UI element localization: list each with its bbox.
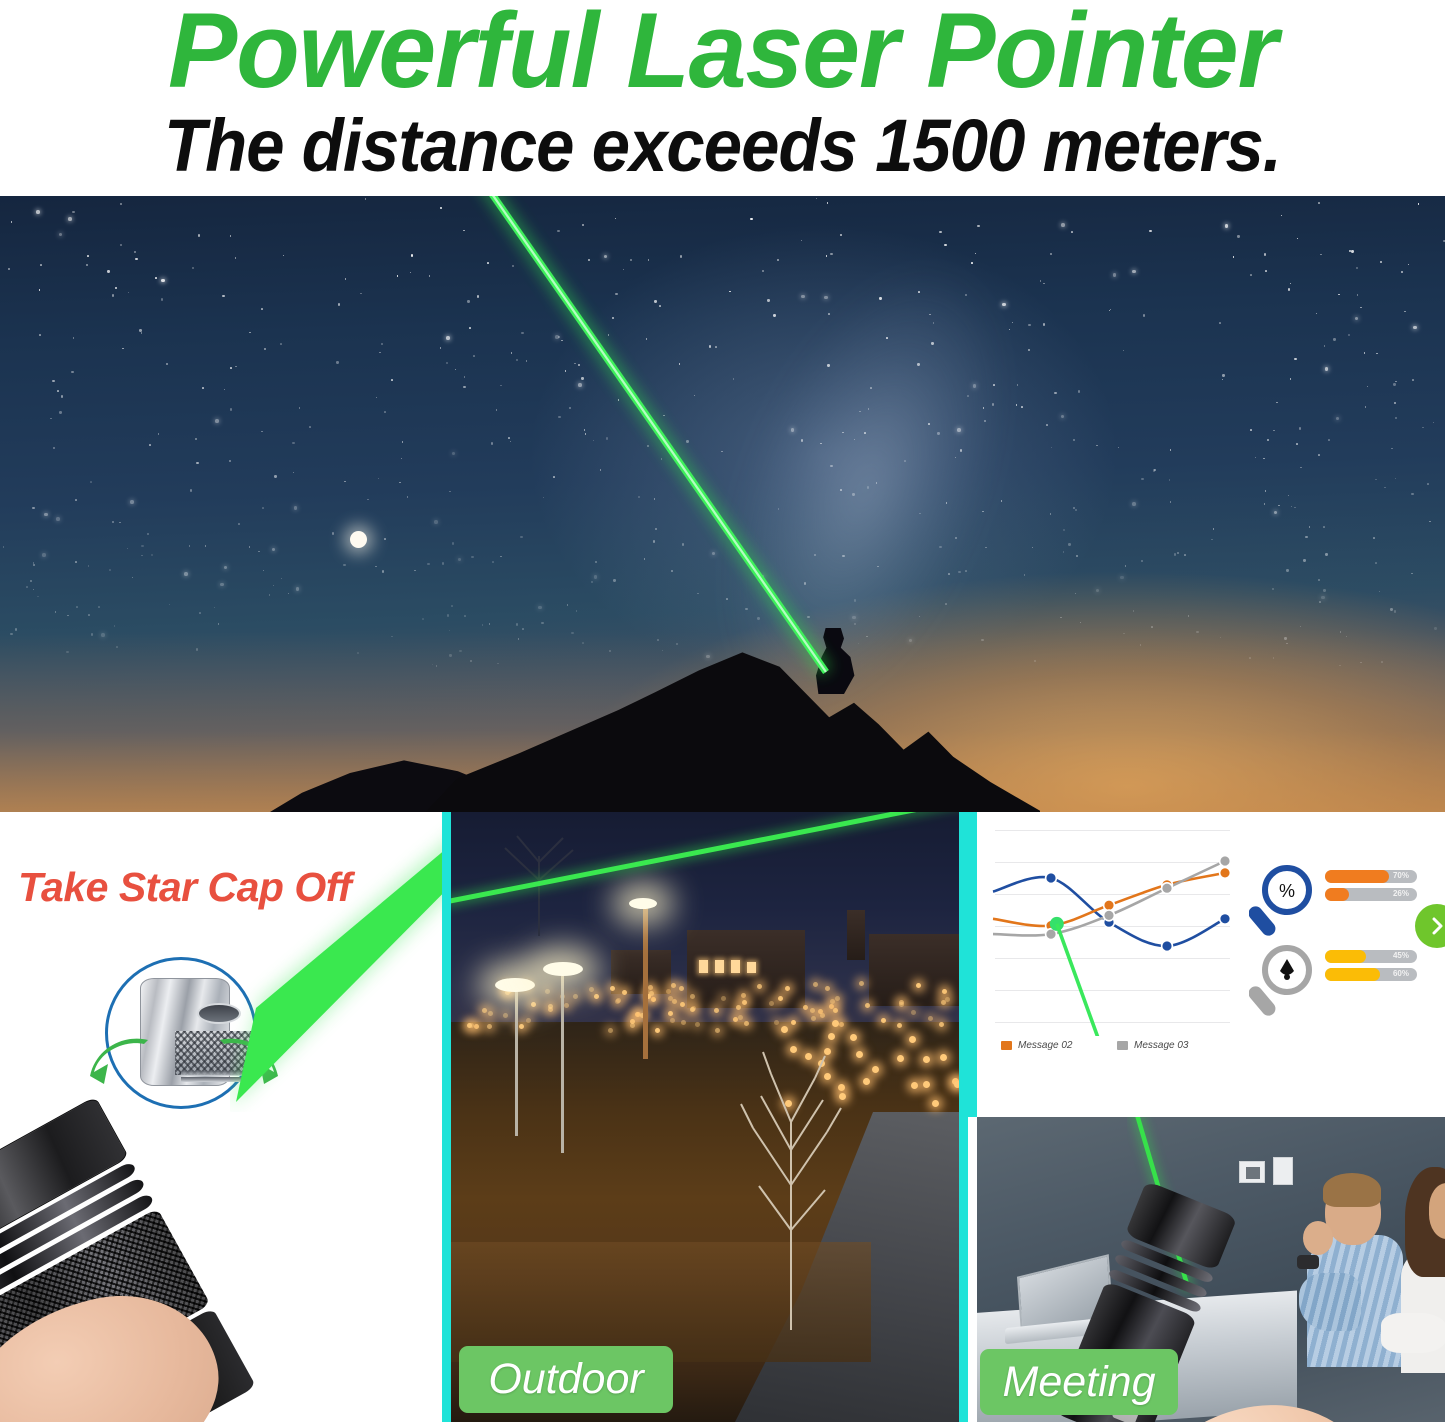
- outdoor-panel: Outdoor: [442, 812, 968, 1422]
- star: [1061, 223, 1065, 227]
- road-light: [932, 1100, 939, 1107]
- star: [1296, 443, 1298, 445]
- star: [1303, 559, 1305, 561]
- drop-magnifier-icon: [1249, 944, 1323, 1022]
- star: [1394, 610, 1396, 612]
- star: [1222, 379, 1224, 381]
- star: [1355, 317, 1359, 321]
- slide-next-button[interactable]: [1415, 904, 1445, 948]
- star: [1264, 503, 1266, 505]
- star: [1265, 490, 1267, 492]
- star: [1384, 487, 1386, 489]
- star: [1263, 458, 1265, 460]
- astronomy-panel: Astronomy: [0, 196, 1445, 812]
- star: [1325, 367, 1329, 371]
- star: [1309, 526, 1311, 528]
- star: [1188, 615, 1190, 617]
- chart-data-point: [1162, 941, 1173, 952]
- star: [1132, 502, 1136, 506]
- star: [1395, 417, 1397, 419]
- road-light: [923, 1056, 930, 1063]
- star: [1286, 569, 1288, 571]
- star: [1413, 326, 1417, 330]
- bottom-row: Take Star Cap Off: [0, 812, 1445, 1422]
- star: [1071, 231, 1073, 233]
- star: [1141, 478, 1143, 480]
- line-chart: [989, 816, 1239, 1036]
- progress-bar-track-1: 70%: [1325, 870, 1417, 883]
- laser-beam-cap-panel: [230, 812, 442, 1112]
- star: [1291, 506, 1293, 508]
- slide-left-border: [968, 812, 977, 1117]
- star: [1225, 224, 1229, 228]
- legend-swatch: [1001, 1041, 1012, 1050]
- progress-bar-fill: [1325, 968, 1380, 981]
- star: [1151, 626, 1153, 628]
- star: [1351, 250, 1353, 252]
- road-light: [863, 1078, 870, 1085]
- star: [1237, 235, 1239, 237]
- star: [1125, 565, 1127, 567]
- star: [1078, 390, 1080, 392]
- star: [1250, 429, 1252, 431]
- outdoor-tag-label: Outdoor: [488, 1355, 643, 1404]
- star: [1365, 406, 1367, 408]
- laser-beam-outdoor: [445, 812, 968, 1010]
- star: [1299, 427, 1301, 429]
- outdoor-tag: Outdoor: [459, 1346, 673, 1413]
- star: [1324, 345, 1326, 347]
- star: [1336, 417, 1340, 421]
- chart-legend-item-1: Message 02: [1001, 1040, 1072, 1051]
- star: [1320, 254, 1322, 256]
- attendee-man-hair: [1323, 1173, 1381, 1207]
- star: [1113, 273, 1117, 277]
- star: [1393, 383, 1395, 385]
- chart-data-point: [1162, 883, 1173, 894]
- star: [1278, 505, 1280, 507]
- street-light: [608, 1028, 613, 1033]
- star: [1401, 271, 1403, 273]
- star: [1233, 256, 1235, 258]
- page-title: Powerful Laser Pointer: [22, 0, 1424, 105]
- star: [1290, 283, 1292, 285]
- star: [1050, 253, 1052, 255]
- presentation-slide: Message 02 Message 03 % 70% 26%: [977, 812, 1445, 1117]
- legend-swatch: [1117, 1041, 1128, 1050]
- progress-bar-fill: [1325, 950, 1366, 963]
- star: [1360, 307, 1362, 309]
- star: [1333, 338, 1335, 340]
- star: [1325, 553, 1327, 555]
- star: [1281, 215, 1283, 217]
- star: [1169, 479, 1171, 481]
- meeting-tag-label: Meeting: [1003, 1358, 1156, 1407]
- progress-bar-track-4: 60%: [1325, 968, 1417, 981]
- street-light: [939, 1022, 944, 1027]
- star: [1418, 203, 1420, 205]
- chart-data-point: [1104, 900, 1115, 911]
- bare-tree-large: [731, 1000, 851, 1330]
- star: [1288, 495, 1290, 497]
- star: [1395, 478, 1397, 480]
- star: [1318, 202, 1320, 204]
- star: [1411, 493, 1413, 495]
- star: [1379, 591, 1381, 593]
- star: [1404, 311, 1406, 313]
- chart-legend-item-2: Message 03: [1117, 1040, 1188, 1051]
- star: [1300, 626, 1302, 628]
- star: [1411, 573, 1413, 575]
- star: [1380, 261, 1382, 263]
- star: [1338, 294, 1340, 296]
- progress-bar-percent: 45%: [1393, 951, 1409, 960]
- street-light: [474, 1024, 479, 1029]
- wall-socket-2: [1273, 1157, 1293, 1185]
- progress-bar-fill: [1325, 888, 1349, 901]
- star: [1305, 536, 1307, 538]
- star: [1323, 589, 1325, 591]
- star: [1433, 422, 1435, 424]
- star: [1323, 526, 1325, 528]
- street-light: [655, 1028, 660, 1033]
- street-light: [695, 1022, 700, 1027]
- legend-label: Message 02: [1018, 1040, 1072, 1051]
- street-light: [488, 1011, 493, 1016]
- header-banner: Powerful Laser Pointer The distance exce…: [0, 0, 1445, 196]
- laser-beam-on-slide: [1057, 924, 1099, 1036]
- star: [1213, 528, 1215, 530]
- star: [1429, 521, 1431, 523]
- star: [1255, 457, 1257, 459]
- star: [1068, 543, 1070, 545]
- star: [1373, 537, 1375, 539]
- street-light: [526, 1018, 531, 1023]
- star: [1141, 560, 1143, 562]
- star: [1328, 439, 1330, 441]
- star: [1154, 469, 1156, 471]
- star: [1264, 253, 1266, 255]
- attendee-woman-arm: [1381, 1313, 1445, 1353]
- legend-label: Message 03: [1134, 1040, 1188, 1051]
- star: [1395, 381, 1397, 383]
- star: [1143, 314, 1145, 316]
- progress-bar-track-3: 45%: [1325, 950, 1417, 963]
- rotate-arrow-left-icon: [90, 1038, 148, 1086]
- meeting-tag: Meeting: [980, 1349, 1178, 1415]
- progress-bar-percent: 26%: [1393, 889, 1409, 898]
- product-infographic: Powerful Laser Pointer The distance exce…: [0, 0, 1445, 1422]
- road-light: [923, 1081, 930, 1088]
- star: [1060, 617, 1062, 619]
- star: [1276, 402, 1278, 404]
- progress-bar-percent: 60%: [1393, 969, 1409, 978]
- star: [1219, 322, 1221, 324]
- star: [1222, 374, 1224, 376]
- star-cap-metal-body: [140, 978, 230, 1086]
- star: [1375, 479, 1377, 481]
- star: [1294, 507, 1296, 509]
- star: [1109, 310, 1111, 312]
- percent-magnifier-icon: %: [1249, 864, 1323, 942]
- star: [1054, 392, 1056, 394]
- star: [1250, 274, 1252, 276]
- chart-data-point: [1104, 910, 1115, 921]
- progress-bar-percent: 70%: [1393, 871, 1409, 880]
- star: [1274, 511, 1278, 515]
- chevron-right-icon: [1428, 917, 1445, 935]
- star: [1412, 379, 1414, 381]
- star: [1046, 424, 1048, 426]
- star: [1288, 288, 1290, 290]
- star: [1434, 627, 1436, 629]
- star: [1319, 601, 1321, 603]
- star: [1294, 358, 1296, 360]
- road-light: [897, 1055, 904, 1062]
- star: [1427, 483, 1429, 485]
- progress-bar-track-2: 26%: [1325, 888, 1417, 901]
- road-light: [909, 1036, 916, 1043]
- star: [1075, 593, 1077, 595]
- star: [1133, 610, 1135, 612]
- chart-data-point: [1220, 913, 1231, 924]
- svg-text:%: %: [1279, 881, 1295, 901]
- attendee-man-arm: [1299, 1273, 1361, 1331]
- star: [1364, 352, 1366, 354]
- star: [1297, 238, 1299, 240]
- star: [1177, 552, 1179, 554]
- street-light: [503, 1013, 508, 1018]
- star: [1184, 554, 1186, 556]
- street-light: [911, 1010, 916, 1015]
- star: [1300, 467, 1302, 469]
- star: [1120, 576, 1124, 580]
- star: [1211, 539, 1213, 541]
- laser-beam-astronomy: [0, 196, 1040, 744]
- chart-data-point: [1046, 873, 1057, 884]
- star: [1422, 427, 1424, 429]
- star: [1357, 294, 1359, 296]
- star: [1273, 430, 1275, 432]
- star: [1265, 270, 1267, 272]
- star: [1132, 270, 1136, 274]
- attendee-man-hand: [1303, 1221, 1333, 1255]
- star-cap-panel: Take Star Cap Off: [0, 812, 442, 1422]
- star: [1408, 264, 1410, 266]
- road-light: [954, 1081, 961, 1088]
- page-subtitle: The distance exceeds 1500 meters.: [51, 108, 1395, 183]
- star: [1394, 402, 1396, 404]
- star: [1356, 267, 1358, 269]
- star: [1391, 448, 1393, 450]
- star: [1149, 230, 1151, 232]
- road-light: [872, 1066, 879, 1073]
- attendee-man-watch: [1297, 1255, 1319, 1269]
- meeting-panel: Message 02 Message 03 % 70% 26%: [968, 812, 1445, 1422]
- star: [1080, 622, 1082, 624]
- star: [1348, 334, 1350, 336]
- star: [1170, 501, 1172, 503]
- star: [1290, 378, 1292, 380]
- road-light: [940, 1054, 947, 1061]
- progress-bar-fill: [1325, 870, 1389, 883]
- star: [1367, 386, 1369, 388]
- star: [1376, 353, 1378, 355]
- star: [1318, 454, 1320, 456]
- star: [1174, 553, 1176, 555]
- street-light: [715, 1028, 720, 1033]
- star: [1318, 579, 1320, 581]
- star: [1170, 449, 1172, 451]
- chart-data-point: [1220, 868, 1231, 879]
- chart-data-point: [1220, 856, 1231, 867]
- star: [1272, 588, 1274, 590]
- star: [1267, 439, 1269, 441]
- star: [1321, 596, 1325, 600]
- star: [1375, 562, 1377, 564]
- star: [1316, 313, 1318, 315]
- star: [1390, 608, 1392, 610]
- star: [1096, 589, 1100, 593]
